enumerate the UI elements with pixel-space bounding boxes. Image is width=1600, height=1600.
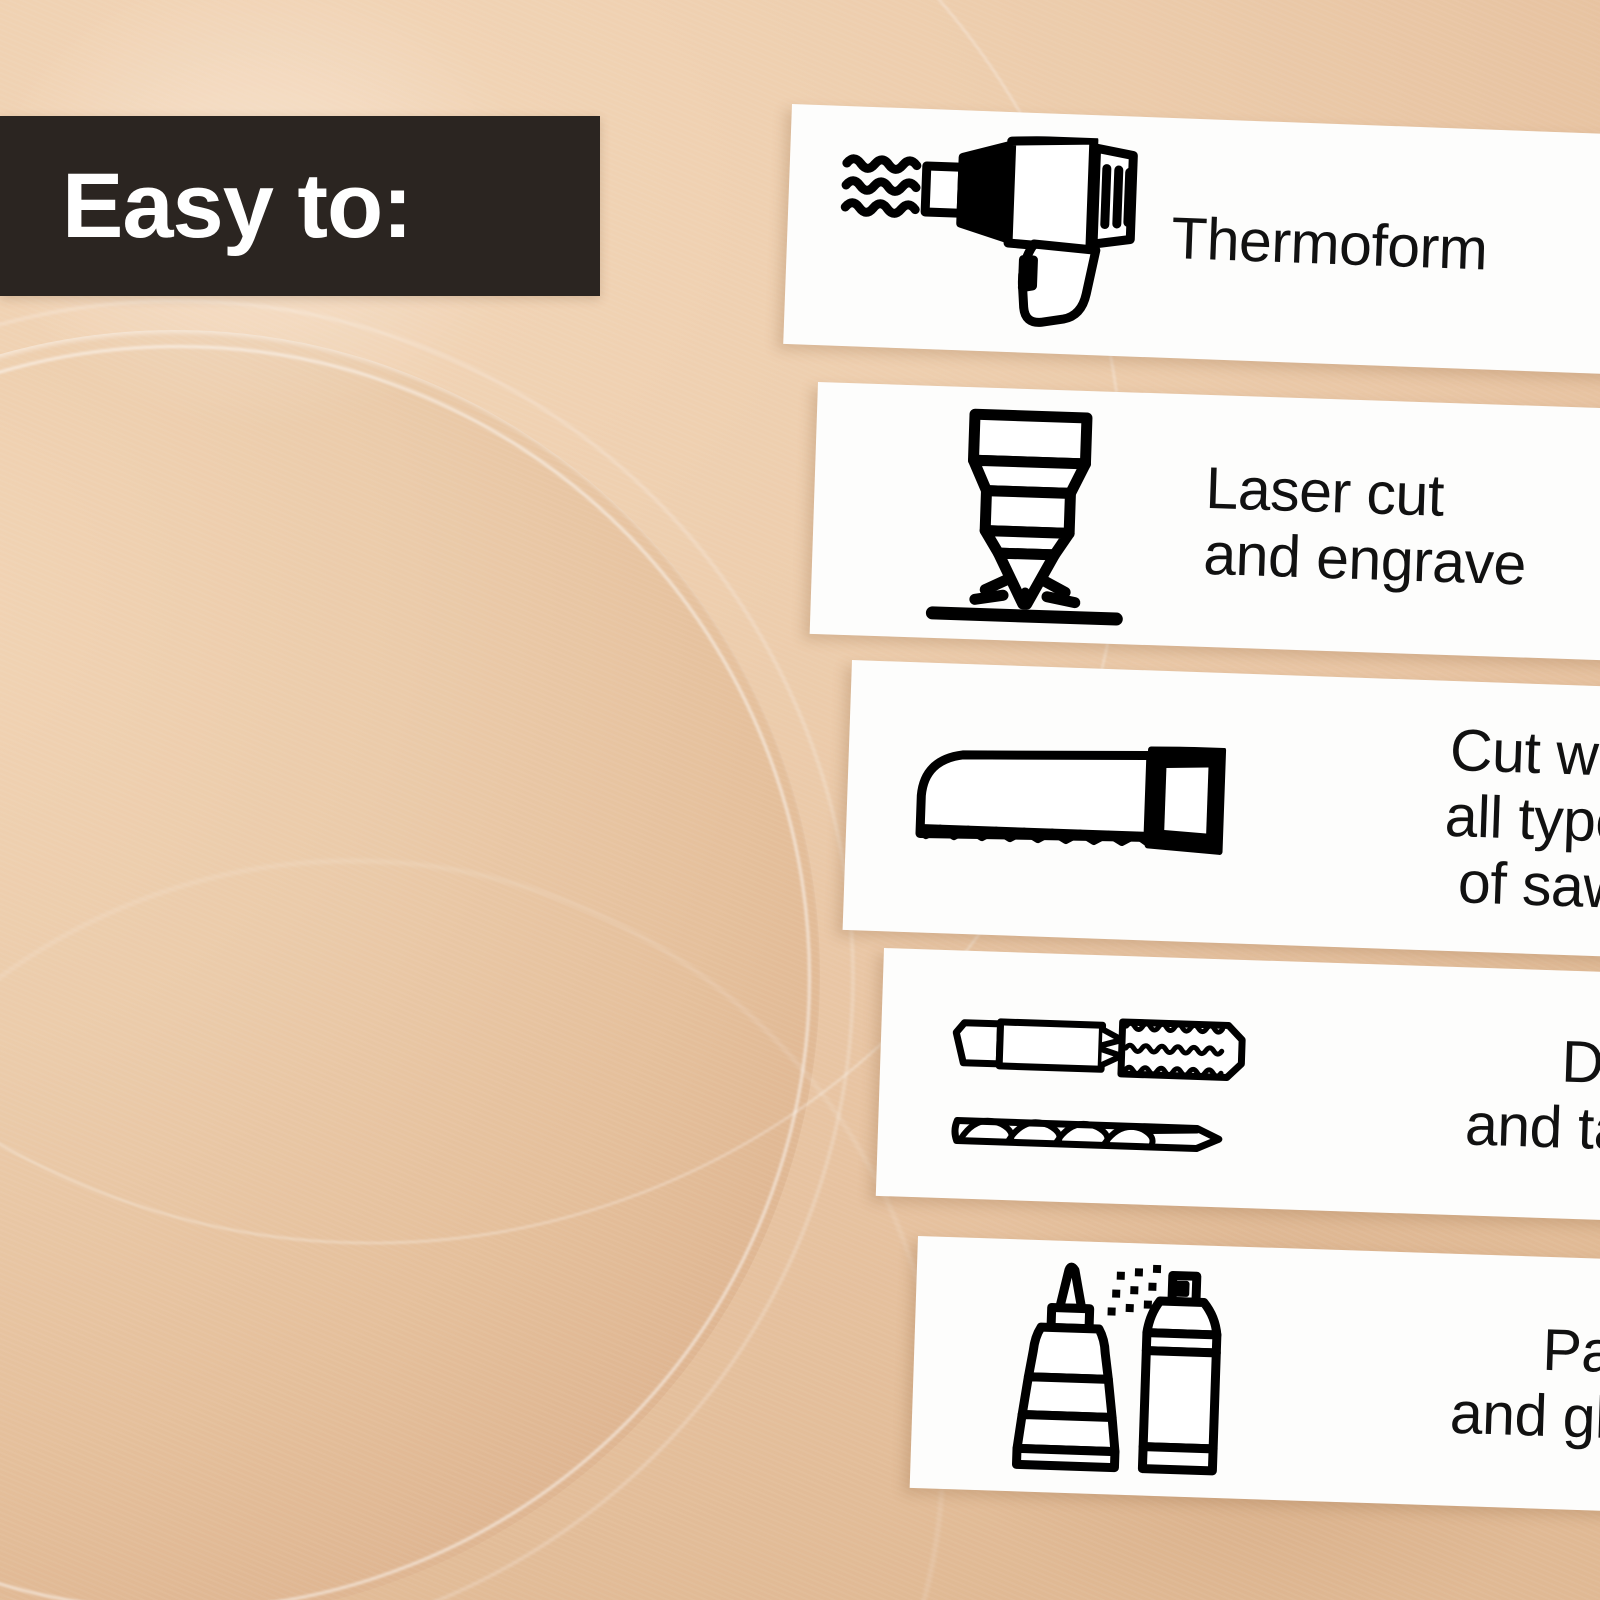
feature-card-label: Drill and tap	[1261, 1019, 1600, 1165]
feature-card-label: Cut with all types of saws	[1250, 710, 1600, 923]
banner-title: Easy to:	[0, 160, 412, 252]
hand-saw-icon	[891, 737, 1255, 869]
feature-card-thermoform[interactable]: Thermoform	[783, 104, 1600, 376]
feature-card-label: Laser cut and engrave	[1142, 453, 1600, 603]
feature-card-paint-and-glue[interactable]: Paint and glue	[910, 1236, 1600, 1514]
laser-cutter-icon	[906, 404, 1148, 627]
header-banner: Easy to:	[0, 116, 600, 296]
infographic-canvas: Easy to:	[0, 0, 1600, 1600]
drill-bit-and-tap-icon	[931, 994, 1266, 1165]
feature-card-cut-with-saws[interactable]: Cut with all types of saws	[843, 660, 1600, 959]
feature-card-label: Paint and glue	[1253, 1307, 1600, 1454]
feature-card-drill-and-tap[interactable]: Drill and tap	[876, 948, 1600, 1223]
feature-card-laser-cut-and-engrave[interactable]: Laser cut and engrave	[810, 382, 1600, 663]
feature-card-label: Thermoform	[1152, 204, 1600, 289]
heat-gun-icon	[820, 128, 1157, 335]
glue-tube-and-spray-can-icon	[982, 1257, 1259, 1481]
